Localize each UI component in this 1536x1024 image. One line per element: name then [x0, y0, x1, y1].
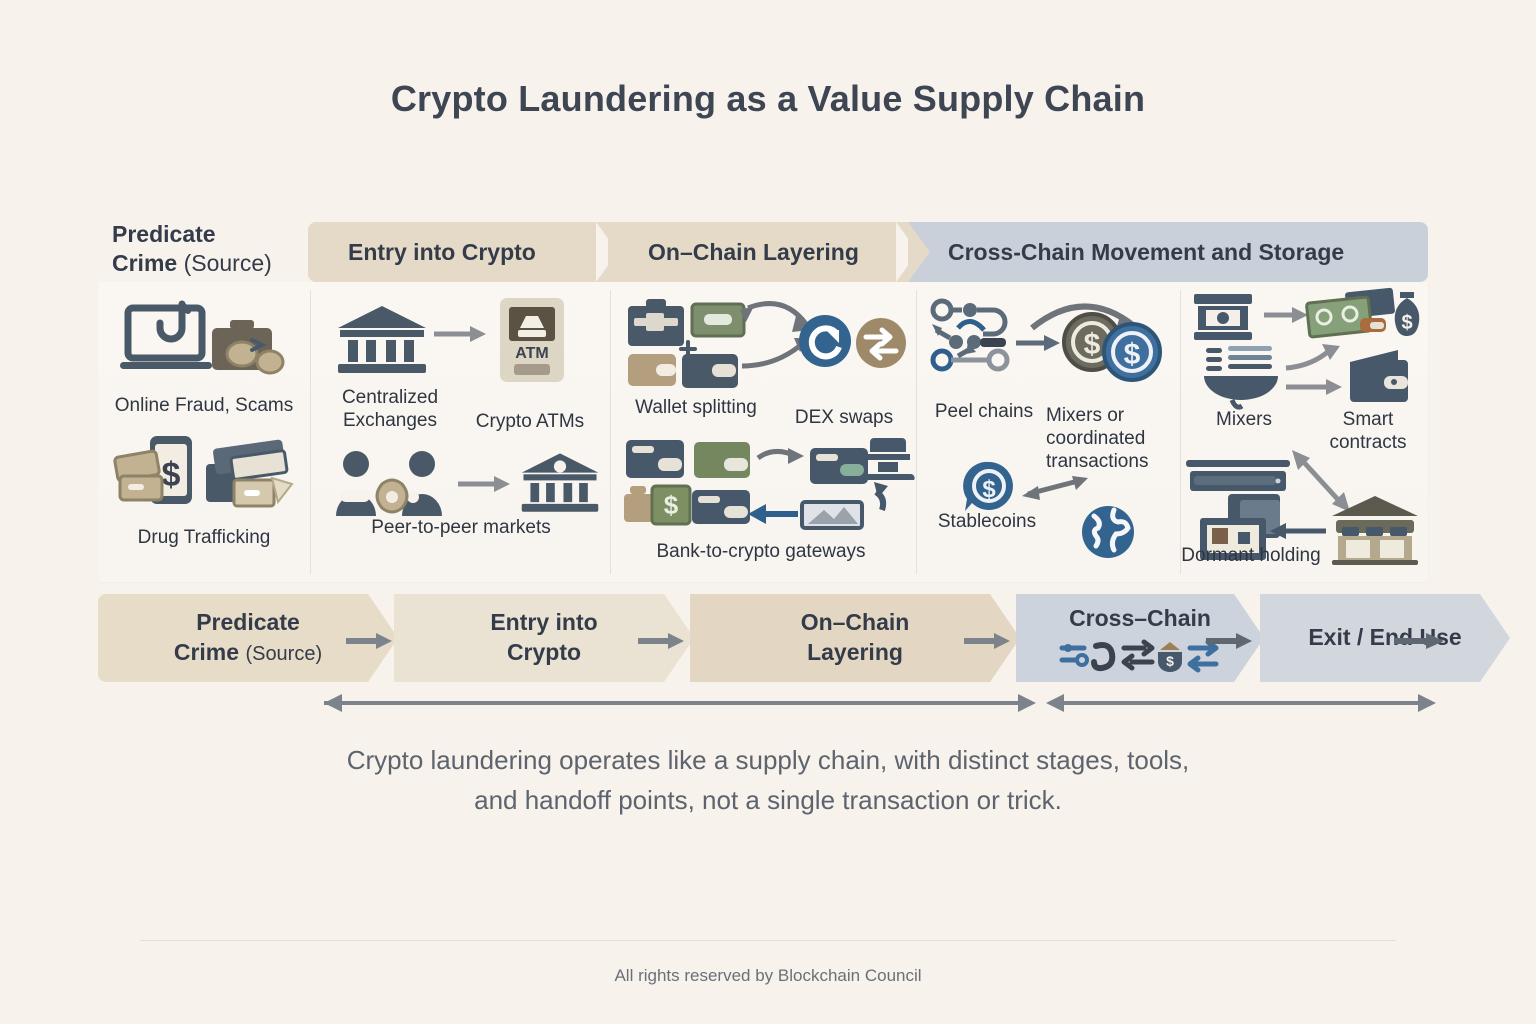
column-entry-into-crypto: ATM Centralized Exchanges Crypto ATMs — [310, 282, 610, 582]
label-drug-trafficking: Drug Trafficking — [100, 526, 308, 549]
flow-stage-on-chain-layering-line1: On–Chain — [801, 608, 910, 638]
exchange-arrows-circle-icon — [854, 316, 908, 370]
two-dollar-coins-icon: $ $ — [1056, 310, 1166, 382]
multi-wallet-icon: $ — [622, 436, 906, 536]
label-dormant-holding: Dormant holding — [1176, 544, 1326, 567]
flow-stage-entry-into-crypto-line1: Entry into — [490, 608, 597, 638]
flow-stage-entry-into-crypto-line2: Crypto — [507, 638, 581, 668]
double-arrow-icon — [1020, 470, 1092, 506]
band-segment-cross-chain-movement[interactable]: Cross-Chain Movement and Storage — [908, 222, 1428, 282]
globe-icon — [1080, 504, 1136, 560]
stage-flow-bar: Predicate Crime (Source) Entry into Cryp… — [98, 594, 1442, 682]
atm-machine-icon: ATM — [498, 296, 568, 384]
flow-stage-exit-end-use[interactable]: Exit / End Use — [1260, 594, 1510, 682]
mixer-bowl-icon — [1202, 346, 1282, 408]
arrow-right-icon-5 — [1286, 378, 1344, 396]
svg-text:$: $ — [1401, 312, 1412, 334]
band-segment-on-chain-layering[interactable]: On–Chain Layering — [608, 222, 908, 282]
bank-building-icon — [336, 304, 428, 376]
laptop-phishing-hook-icon — [120, 302, 300, 380]
predicate-crime-header-source: (Source) — [184, 250, 272, 276]
caption-line-2: and handoff points, not a single transac… — [0, 780, 1536, 820]
arrow-right-icon-2 — [458, 474, 512, 494]
stage-content-panel: Online Fraud, Scams $ Drug Trafficking — [98, 282, 1428, 582]
predicate-crime-header-line2: Crime — [112, 250, 177, 276]
flow-stage-cross-chain-line1: Cross–Chain — [1069, 604, 1211, 634]
two-people-money-bag-icon — [330, 450, 458, 522]
band-label-on-chain-layering: On–Chain Layering — [608, 239, 859, 266]
stage-header-band: Entry into Crypto On–Chain Layering Cros… — [308, 222, 1428, 282]
wallet-split-icon — [624, 296, 754, 388]
flow-arrow-1 — [346, 632, 394, 650]
label-centralized-exchanges: Centralized Exchanges — [320, 386, 460, 432]
range-arrow-right — [1046, 694, 1436, 712]
page-title: Crypto Laundering as a Value Supply Chai… — [0, 78, 1536, 120]
label-wallet-splitting: Wallet splitting — [608, 396, 784, 419]
label-crypto-atms: Crypto ATMs — [460, 410, 600, 433]
bank-building-icon-2 — [520, 450, 600, 516]
column-cross-chain-movement: $ $ Peel chains Mixers or coordinated tr… — [916, 282, 1180, 582]
range-arrows — [98, 688, 1442, 724]
arrow-right-icon-1 — [434, 324, 488, 344]
vault-icon — [1192, 292, 1256, 342]
label-mixers: Mixers — [1180, 408, 1308, 431]
flow-stage-on-chain-layering-line2: Layering — [807, 638, 903, 668]
curved-arrow-up-icon — [1284, 342, 1352, 372]
card-slot-icon — [1186, 460, 1292, 494]
node-graph-icon — [928, 298, 1026, 376]
phone-dollar-pills-icon: $ — [114, 434, 296, 514]
label-bank-to-crypto-gateways: Bank-to-crypto gateways — [606, 540, 916, 563]
wallet-icon — [1346, 348, 1410, 404]
band-segment-entry-into-crypto[interactable]: Entry into Crypto — [308, 222, 608, 282]
flow-arrow-4 — [1206, 632, 1254, 650]
predicate-crime-header-line1: Predicate — [112, 221, 216, 247]
footer-divider — [140, 940, 1396, 941]
label-peer-to-peer-markets: Peer-to-peer markets — [316, 516, 606, 539]
caption: Crypto laundering operates like a supply… — [0, 740, 1536, 821]
arrow-left-icon-1 — [1268, 522, 1328, 540]
flow-arrow-2 — [638, 632, 686, 650]
storefront-icon — [1330, 494, 1420, 566]
range-arrow-left — [324, 694, 1036, 712]
band-label-cross-chain-movement: Cross-Chain Movement and Storage — [908, 239, 1344, 266]
infographic-canvas: Crypto Laundering as a Value Supply Chai… — [0, 0, 1536, 1024]
label-stablecoins: Stablecoins — [912, 510, 1062, 533]
band-label-entry-into-crypto: Entry into Crypto — [308, 239, 536, 266]
svg-text:$: $ — [1166, 653, 1174, 669]
dollar-chat-coin-icon: $ — [962, 460, 1016, 514]
label-online-fraud-scams: Online Fraud, Scams — [100, 394, 308, 417]
range-arrow-group — [98, 688, 1442, 718]
column-on-chain-layering: Wallet splitting DEX swaps $ — [610, 282, 916, 582]
label-peel-chains: Peel chains — [910, 400, 1058, 423]
svg-text:$: $ — [982, 476, 996, 503]
footer-text: All rights reserved by Blockchain Counci… — [0, 966, 1536, 986]
flow-stage-predicate-crime-line2: Crime — [174, 639, 239, 665]
label-dex-swaps: DEX swaps — [774, 406, 914, 429]
flow-arrow-3 — [964, 632, 1012, 650]
arrow-right-icon-4 — [1264, 306, 1310, 324]
column-exit-end-use: $ — [1180, 282, 1428, 582]
bridge-transfer-icons: $ — [1060, 640, 1220, 672]
cash-wallet-moneybag-icon: $ — [1306, 286, 1424, 348]
flow-stage-predicate-crime-line1: Predicate — [196, 608, 300, 638]
label-mixers-or-coordinated-transactions: Mixers or coordinated transactions — [1046, 404, 1180, 474]
predicate-crime-header: Predicate Crime (Source) — [112, 220, 302, 279]
svg-text:ATM: ATM — [515, 345, 548, 362]
svg-text:$: $ — [162, 456, 181, 494]
flow-stage-predicate-crime-source: (Source) — [245, 643, 322, 665]
svg-text:$: $ — [664, 490, 679, 520]
swap-circle-icon — [796, 312, 854, 370]
caption-line-1: Crypto laundering operates like a supply… — [0, 740, 1536, 780]
svg-text:$: $ — [1124, 338, 1141, 371]
svg-text:$: $ — [1084, 328, 1101, 361]
column-predicate-crime: Online Fraud, Scams $ Drug Trafficking — [98, 282, 310, 582]
flow-arrow-5 — [1394, 632, 1446, 650]
